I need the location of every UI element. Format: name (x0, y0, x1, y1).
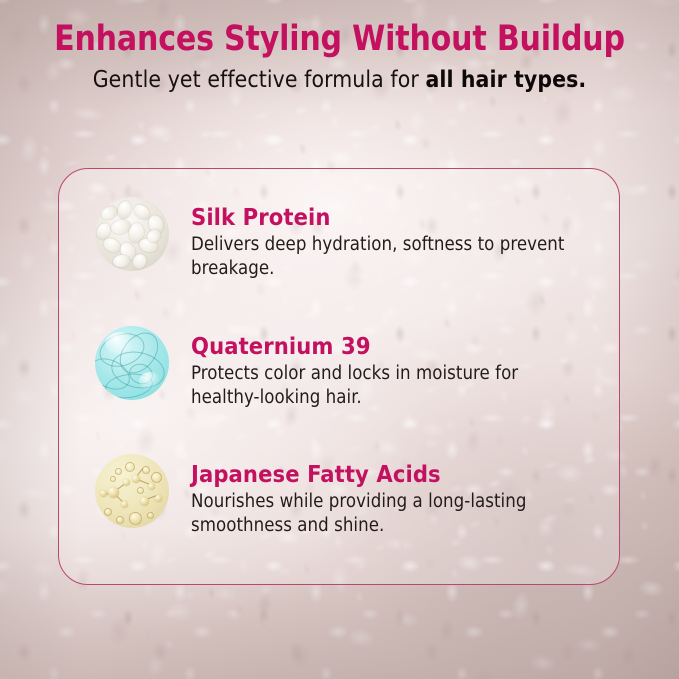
list-item: Silk Protein Delivers deep hydration, so… (95, 197, 593, 301)
ingredient-description: Nourishes while providing a long-lasting… (191, 490, 526, 538)
oil-molecule-icon (95, 454, 169, 528)
list-item: Japanese Fatty Acids Nourishes while pro… (95, 454, 593, 558)
ingredients-list: Silk Protein Delivers deep hydration, so… (59, 169, 619, 584)
cyan-gel-swirl-icon (95, 326, 169, 400)
product-feature-poster: Enhances Styling Without Buildup Gentle … (0, 0, 679, 679)
page-subtitle: Gentle yet effective formula for all hai… (3, 66, 675, 95)
ingredient-description: Delivers deep hydration, softness to pre… (191, 233, 564, 281)
page-title: Enhances Styling Without Buildup (15, 18, 663, 60)
ingredients-card: Silk Protein Delivers deep hydration, so… (58, 168, 620, 585)
ingredient-text: Japanese Fatty Acids Nourishes while pro… (191, 454, 526, 538)
subtitle-prefix: Gentle yet effective formula for (93, 67, 426, 93)
ingredient-text: Silk Protein Delivers deep hydration, so… (191, 197, 564, 281)
list-item: Quaternium 39 Protects color and locks i… (95, 326, 593, 430)
subtitle-emphasis: all hair types. (425, 67, 586, 93)
poster-header: Enhances Styling Without Buildup Gentle … (0, 18, 679, 95)
silk-cocoons-icon (95, 197, 169, 271)
ingredient-title: Quaternium 39 (191, 333, 518, 359)
ingredient-title: Silk Protein (191, 204, 564, 230)
ingredient-description: Protects color and locks in moisture for… (191, 362, 518, 410)
ingredient-text: Quaternium 39 Protects color and locks i… (191, 326, 518, 410)
ingredient-title: Japanese Fatty Acids (191, 461, 526, 487)
